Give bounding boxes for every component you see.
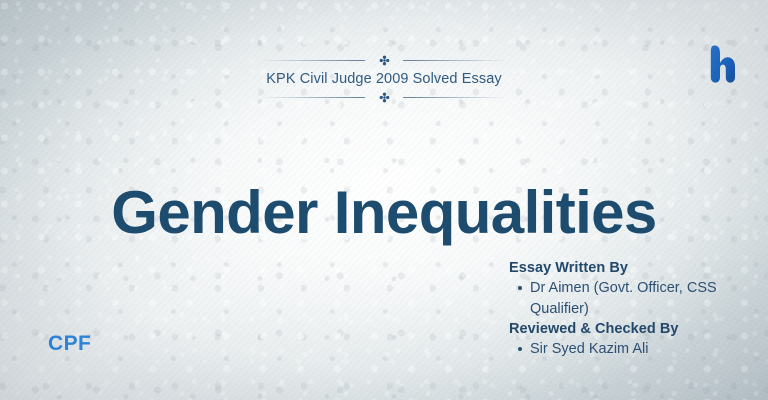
credits-block: Essay Written By Dr Aimen (Govt. Officer…	[509, 259, 757, 361]
list-item: Sir Syed Kazim Ali	[530, 339, 757, 360]
written-by-list: Dr Aimen (Govt. Officer, CSS Qualifier)	[509, 278, 757, 319]
divider-bottom	[259, 91, 509, 103]
cpf-logo: CPF	[48, 332, 91, 356]
slide-title: Gender Inequalities	[0, 183, 768, 243]
presentation-slide: KPK Civil Judge 2009 Solved Essay Gender…	[0, 0, 768, 400]
reviewed-by-list: Sir Syed Kazim Ali	[509, 339, 757, 360]
divider-top	[259, 54, 509, 66]
clover-ornament-icon	[379, 92, 390, 103]
list-item: Dr Aimen (Govt. Officer, CSS Qualifier)	[530, 278, 757, 319]
slide-header: KPK Civil Judge 2009 Solved Essay	[259, 54, 509, 103]
reviewed-by-heading: Reviewed & Checked By	[509, 320, 757, 339]
howfiv-h-logo-icon	[701, 41, 741, 85]
clover-ornament-icon	[379, 55, 390, 66]
slide-eyebrow-text: KPK Civil Judge 2009 Solved Essay	[259, 66, 509, 91]
written-by-heading: Essay Written By	[509, 259, 757, 278]
